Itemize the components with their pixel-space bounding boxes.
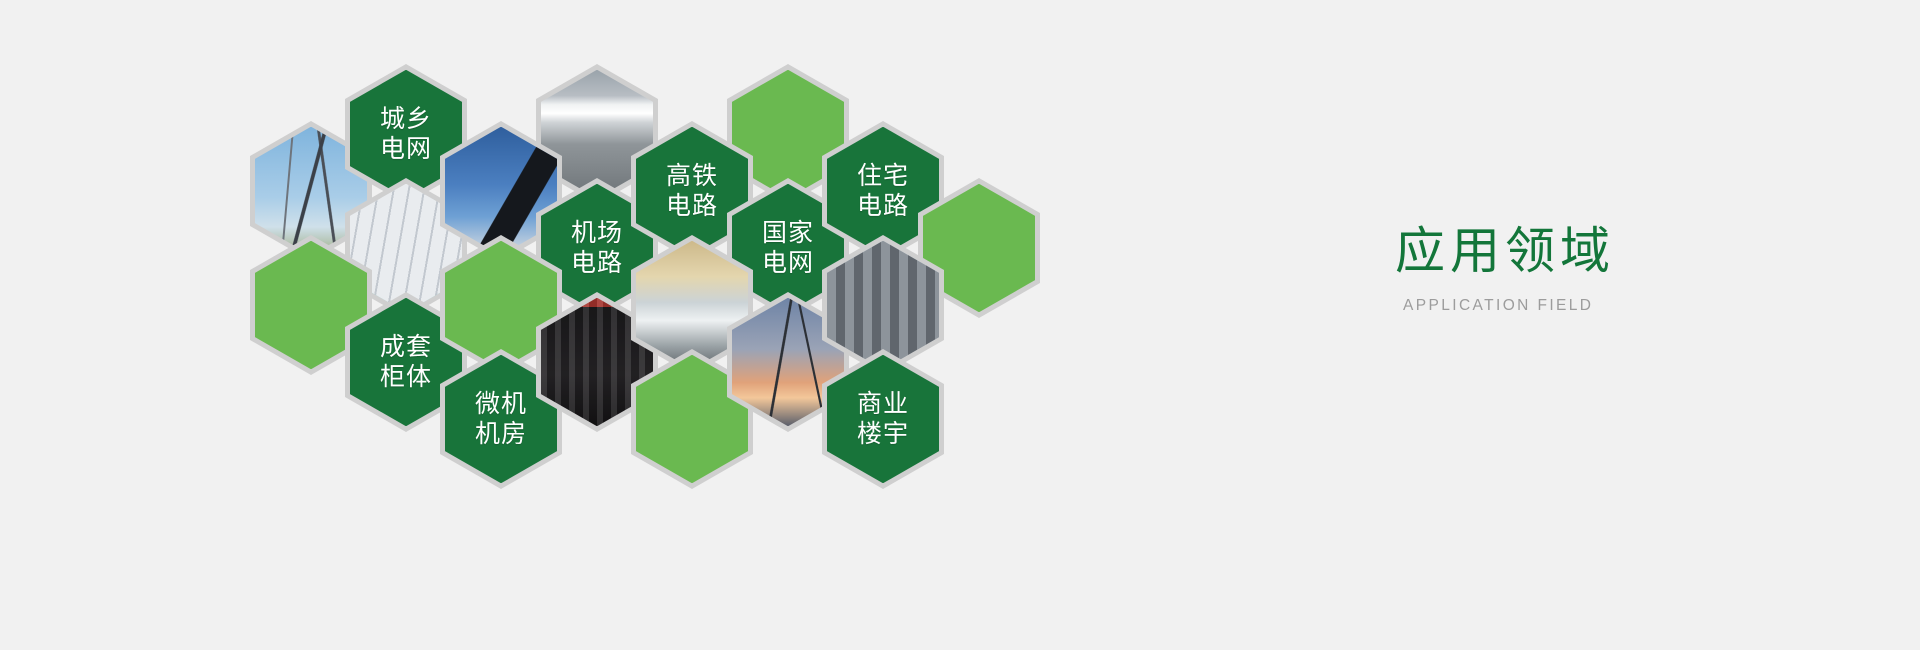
title-block: 应用领域 APPLICATION FIELD: [1395, 222, 1825, 315]
page-title: 应用领域: [1395, 222, 1825, 281]
hex-label-text: 国家 电网: [762, 218, 814, 277]
hex-label-text: 城乡 电网: [380, 104, 432, 163]
application-field-banner: 城乡 电网机场 电路高铁 电路国家 电网住宅 电路成套 柜体微机 机房商业 楼宇…: [0, 0, 1920, 650]
hex-label-text: 住宅 电路: [857, 161, 909, 220]
hex-label-text: 商业 楼宇: [857, 389, 909, 448]
hex-label-text: 机场 电路: [571, 218, 623, 277]
page-subtitle: APPLICATION FIELD: [1403, 297, 1825, 315]
hex-label-text: 成套 柜体: [380, 332, 432, 391]
hex-label-text: 微机 机房: [475, 389, 527, 448]
hex-label-text: 高铁 电路: [666, 161, 718, 220]
honeycomb-grid: 城乡 电网机场 电路高铁 电路国家 电网住宅 电路成套 柜体微机 机房商业 楼宇: [0, 0, 1180, 650]
hex-inner: 商业 楼宇: [827, 355, 939, 484]
